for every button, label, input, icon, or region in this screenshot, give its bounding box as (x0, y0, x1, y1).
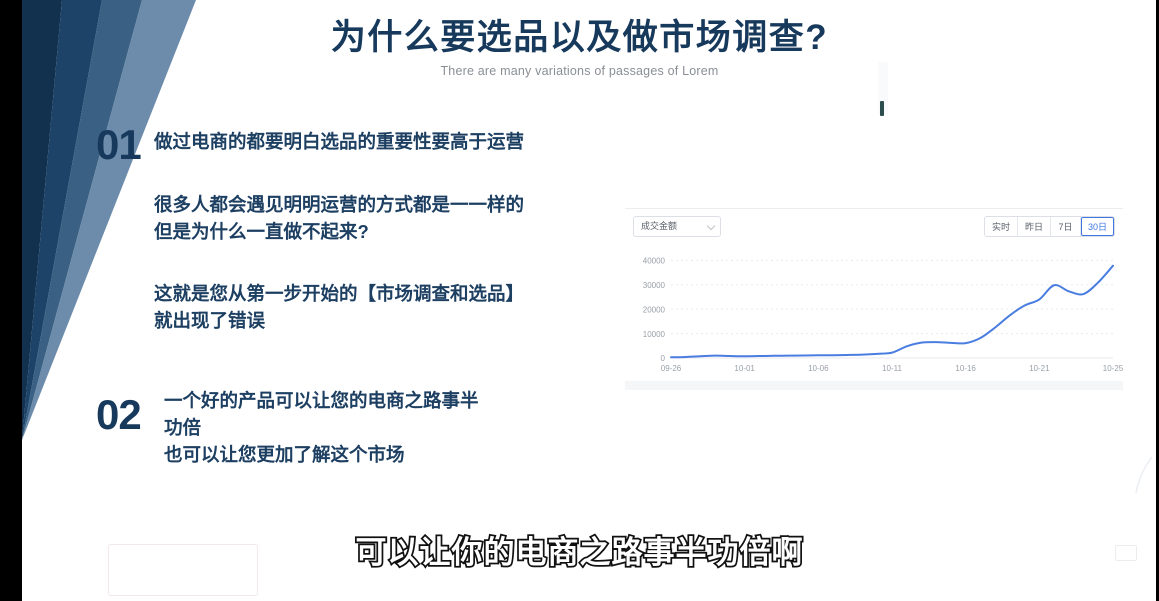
title-block: 为什么要选品以及做市场调查? There are many variations… (0, 18, 1159, 78)
svg-text:0: 0 (661, 354, 666, 363)
svg-text:10-11: 10-11 (882, 364, 902, 373)
block-number-01: 01 (96, 124, 141, 166)
body-line: 很多人都会遇见明明运营的方式都是一一样的 (154, 192, 524, 219)
svg-text:10-21: 10-21 (1029, 364, 1050, 373)
paragraph: 很多人都会遇见明明运营的方式都是一一样的 但是为什么一直做不起来? (154, 192, 524, 246)
analytics-chart-card: 成交金额 实时 昨日 7日 30日 0100002000030000400000… (625, 208, 1123, 390)
line-chart-plot: 01000020000300004000009-2610-0110-0610-1… (625, 243, 1123, 382)
ghost-glyph-artifact (880, 101, 884, 116)
metric-select-value: 成交金额 (641, 222, 677, 231)
metric-select[interactable]: 成交金额 (633, 216, 721, 237)
chart-svg: 01000020000300004000009-2610-0110-0610-1… (625, 243, 1123, 382)
paragraph: 一个好的产品可以让您的电商之路事半 功倍 也可以让您更加了解这个市场 (164, 388, 479, 468)
range-button-7d[interactable]: 7日 (1051, 217, 1081, 236)
svg-text:40000: 40000 (643, 257, 666, 266)
paragraph: 这就是您从第一步开始的【市场调查和选品】 就出现了错误 (154, 281, 524, 335)
page-title: 为什么要选品以及做市场调查? (0, 18, 1159, 58)
body-line: 也可以让您更加了解这个市场 (164, 442, 479, 469)
svg-text:10-01: 10-01 (734, 364, 755, 373)
body-line: 做过电商的都要明白选品的重要性要高于运营 (154, 129, 524, 156)
svg-text:10-16: 10-16 (955, 364, 976, 373)
body-line: 就出现了错误 (154, 308, 524, 335)
svg-text:20000: 20000 (643, 305, 666, 314)
chart-toolbar: 成交金额 实时 昨日 7日 30日 (625, 209, 1123, 243)
range-button-realtime[interactable]: 实时 (985, 217, 1018, 236)
content-block-01: 01 做过电商的都要明白选品的重要性要高于运营 很多人都会遇见明明运营的方式都是… (96, 124, 616, 314)
svg-text:30000: 30000 (643, 281, 666, 290)
range-button-30d[interactable]: 30日 (1081, 217, 1114, 236)
svg-text:10-06: 10-06 (808, 364, 829, 373)
body-line: 一个好的产品可以让您的电商之路事半 (164, 388, 479, 415)
block-number-02: 02 (96, 394, 141, 436)
body-line: 但是为什么一直做不起来? (154, 219, 524, 246)
page-subtitle: There are many variations of passages of… (0, 64, 1159, 78)
svg-text:09-26: 09-26 (661, 364, 682, 373)
slide-canvas: 为什么要选品以及做市场调查? There are many variations… (0, 0, 1159, 601)
left-black-gutter (0, 0, 22, 601)
range-button-yesterday[interactable]: 昨日 (1018, 217, 1051, 236)
paragraph: 做过电商的都要明白选品的重要性要高于运营 (154, 129, 524, 156)
block-body-02: 一个好的产品可以让您的电商之路事半 功倍 也可以让您更加了解这个市场 (164, 388, 479, 468)
svg-text:10000: 10000 (643, 330, 666, 339)
body-line: 功倍 (164, 415, 479, 442)
ghost-curve-artifact (1124, 455, 1154, 495)
chevron-down-icon (708, 223, 715, 230)
body-line: 这就是您从第一步开始的【市场调查和选品】 (154, 281, 524, 308)
subtitle-caption: 可以让你的电商之路事半功倍啊 (0, 536, 1159, 570)
time-range-segmented-control[interactable]: 实时 昨日 7日 30日 (984, 216, 1115, 237)
svg-text:10-25: 10-25 (1103, 364, 1123, 373)
content-block-02: 02 一个好的产品可以让您的电商之路事半 功倍 也可以让您更加了解这个市场 (96, 388, 616, 488)
block-body-01: 做过电商的都要明白选品的重要性要高于运营 很多人都会遇见明明运营的方式都是一一样… (154, 129, 524, 335)
